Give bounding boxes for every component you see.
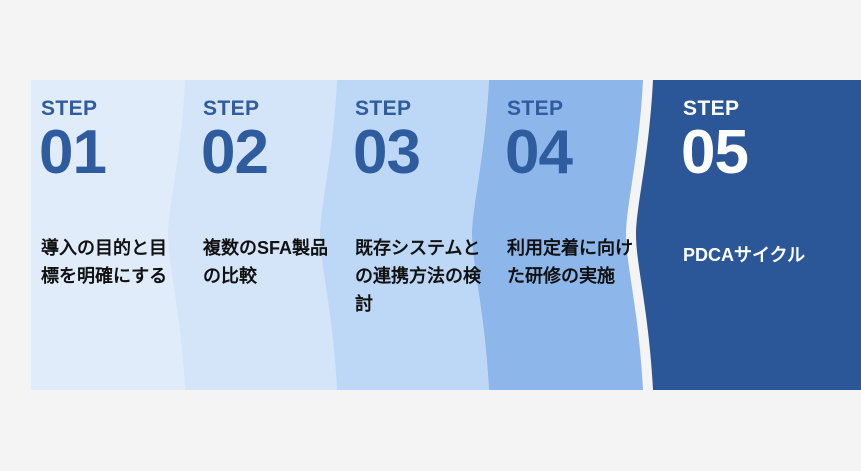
steps-band: STEP 01 導入の目的と目標を明確にする STEP 02 複数のSFA製品の… (31, 80, 861, 390)
step-shape-5 (636, 80, 861, 390)
steps-shapes (31, 80, 861, 390)
step-shape-1 (31, 80, 185, 390)
step-shape-4 (472, 80, 643, 390)
step-shape-2 (168, 80, 337, 390)
stepper-graphic: STEP 01 導入の目的と目標を明確にする STEP 02 複数のSFA製品の… (0, 0, 861, 471)
step-shape-3 (320, 80, 489, 390)
